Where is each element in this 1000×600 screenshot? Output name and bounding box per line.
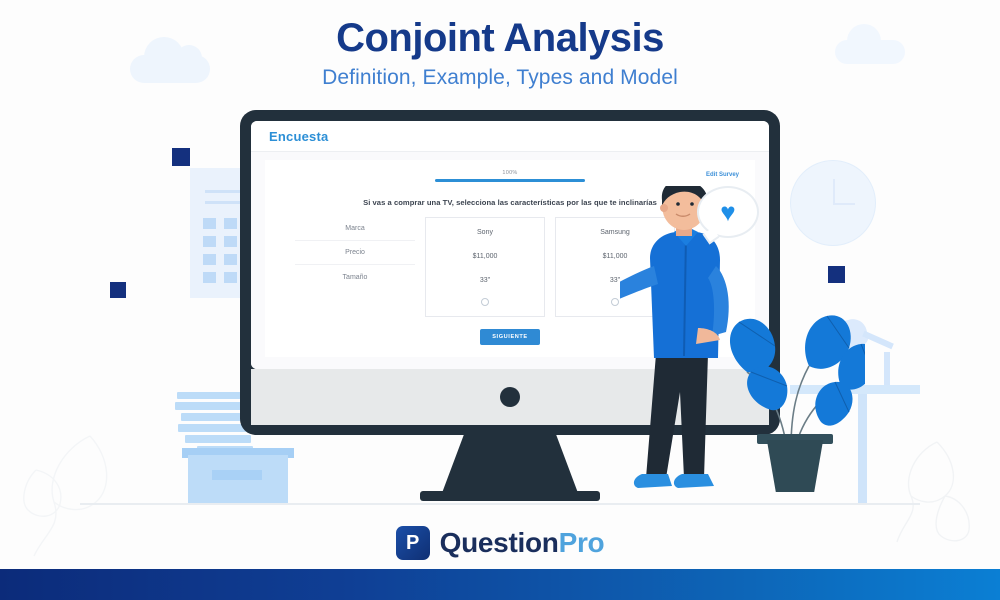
monitor-logo-dot — [500, 387, 520, 407]
logo-text-question: Question — [440, 527, 559, 558]
page-subtitle: Definition, Example, Types and Model — [0, 66, 1000, 90]
monitor-stand — [442, 435, 578, 493]
option-card-1[interactable]: Sony $11,000 33" — [425, 217, 545, 317]
sparkle-icon — [110, 282, 126, 298]
attribute-label-size: Tamaño — [295, 265, 415, 289]
logo-mark-icon: P — [396, 526, 430, 560]
next-button[interactable]: SIGUIENTE — [480, 329, 540, 345]
survey-topbar: Encuesta — [251, 121, 769, 152]
option-1-price: $11,000 — [426, 244, 544, 268]
heart-icon: ♥ — [720, 199, 735, 225]
progress-label: 100% — [435, 170, 585, 176]
bottom-accent-bar — [0, 569, 1000, 600]
option-1-size: 33" — [426, 268, 544, 292]
option-1-radio-wrap[interactable] — [426, 292, 544, 312]
radio-button-option-2[interactable] — [611, 298, 619, 306]
edit-survey-link[interactable]: Edit Survey — [706, 172, 739, 178]
plant-illustration — [725, 300, 865, 500]
speech-bubble: ♥ — [697, 186, 759, 238]
sparkle-icon — [172, 148, 190, 166]
radio-button-option-1[interactable] — [481, 298, 489, 306]
option-1-brand: Sony — [426, 220, 544, 244]
survey-title: Encuesta — [269, 129, 328, 144]
progress-track — [435, 179, 585, 182]
logo-text-pro: Pro — [559, 527, 605, 558]
poster-canvas: Conjoint Analysis Definition, Example, T… — [0, 0, 1000, 600]
progress-indicator: 100% — [435, 170, 585, 182]
progress-fill — [435, 179, 585, 182]
attribute-column: Marca Precio Tamaño — [295, 217, 415, 317]
monitor-stand-base — [420, 491, 600, 501]
attribute-label-price: Precio — [295, 241, 415, 265]
brand-logo: P QuestionPro — [0, 526, 1000, 560]
attribute-label-brand: Marca — [295, 217, 415, 241]
floor-line — [80, 503, 920, 505]
sparkle-icon — [828, 266, 845, 283]
page-title: Conjoint Analysis — [0, 16, 1000, 60]
hero-block: Conjoint Analysis Definition, Example, T… — [0, 16, 1000, 90]
clock-icon — [790, 160, 876, 246]
